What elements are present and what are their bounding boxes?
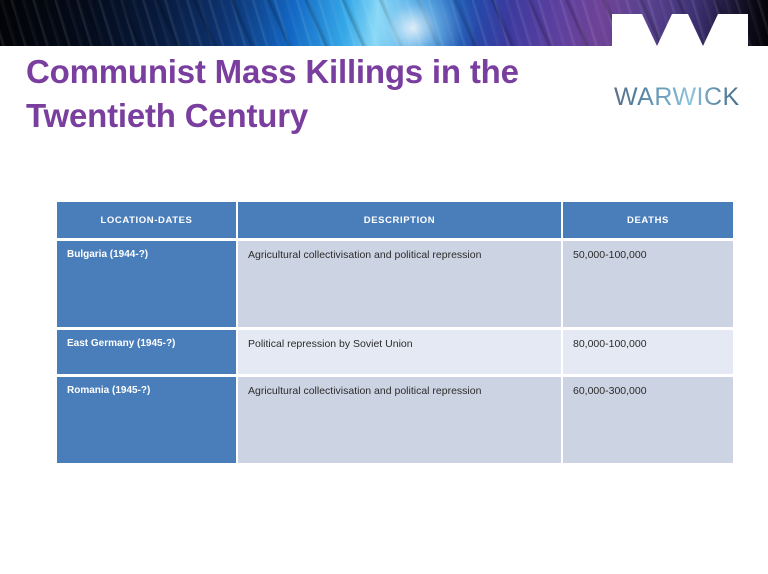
banner-glow-highlight — [338, 0, 488, 46]
slide-title-line-1: Communist Mass Killings in the — [26, 50, 606, 94]
cell-description-romania: Agricultural collectivisation and politi… — [238, 374, 563, 463]
table-header-row: LOCATION-DATES DESCRIPTION DEATHS — [57, 202, 733, 238]
table-row: East Germany (1945-?) Political repressi… — [57, 327, 733, 374]
cell-description-east-germany: Political repression by Soviet Union — [238, 327, 563, 374]
table-header: LOCATION-DATES DESCRIPTION DEATHS — [57, 202, 733, 238]
cell-location-bulgaria: Bulgaria (1944-?) — [57, 238, 238, 327]
warwick-wordmark: WARWICK — [614, 82, 746, 112]
table-body: Bulgaria (1944-?) Agricultural collectiv… — [57, 238, 733, 463]
slide-title-line-2: Twentieth Century — [26, 94, 606, 138]
column-header-deaths: DEATHS — [563, 202, 733, 238]
mass-killings-table: LOCATION-DATES DESCRIPTION DEATHS Bulgar… — [57, 202, 733, 463]
cell-location-romania: Romania (1945-?) — [57, 374, 238, 463]
column-header-location-dates: LOCATION-DATES — [57, 202, 238, 238]
warwick-w-icon — [612, 0, 748, 46]
warwick-logo: WARWICK — [612, 0, 748, 118]
cell-location-east-germany: East Germany (1945-?) — [57, 327, 238, 374]
cell-deaths-east-germany: 80,000-100,000 — [563, 327, 733, 374]
slide-canvas: WARWICK Communist Mass Killings in the T… — [0, 0, 768, 574]
mass-killings-table-container: LOCATION-DATES DESCRIPTION DEATHS Bulgar… — [57, 202, 733, 463]
table-row: Bulgaria (1944-?) Agricultural collectiv… — [57, 238, 733, 327]
slide-title: Communist Mass Killings in the Twentieth… — [26, 50, 606, 138]
cell-description-bulgaria: Agricultural collectivisation and politi… — [238, 238, 563, 327]
cell-deaths-romania: 60,000-300,000 — [563, 374, 733, 463]
cell-deaths-bulgaria: 50,000-100,000 — [563, 238, 733, 327]
column-header-description: DESCRIPTION — [238, 202, 563, 238]
table-row: Romania (1945-?) Agricultural collectivi… — [57, 374, 733, 463]
